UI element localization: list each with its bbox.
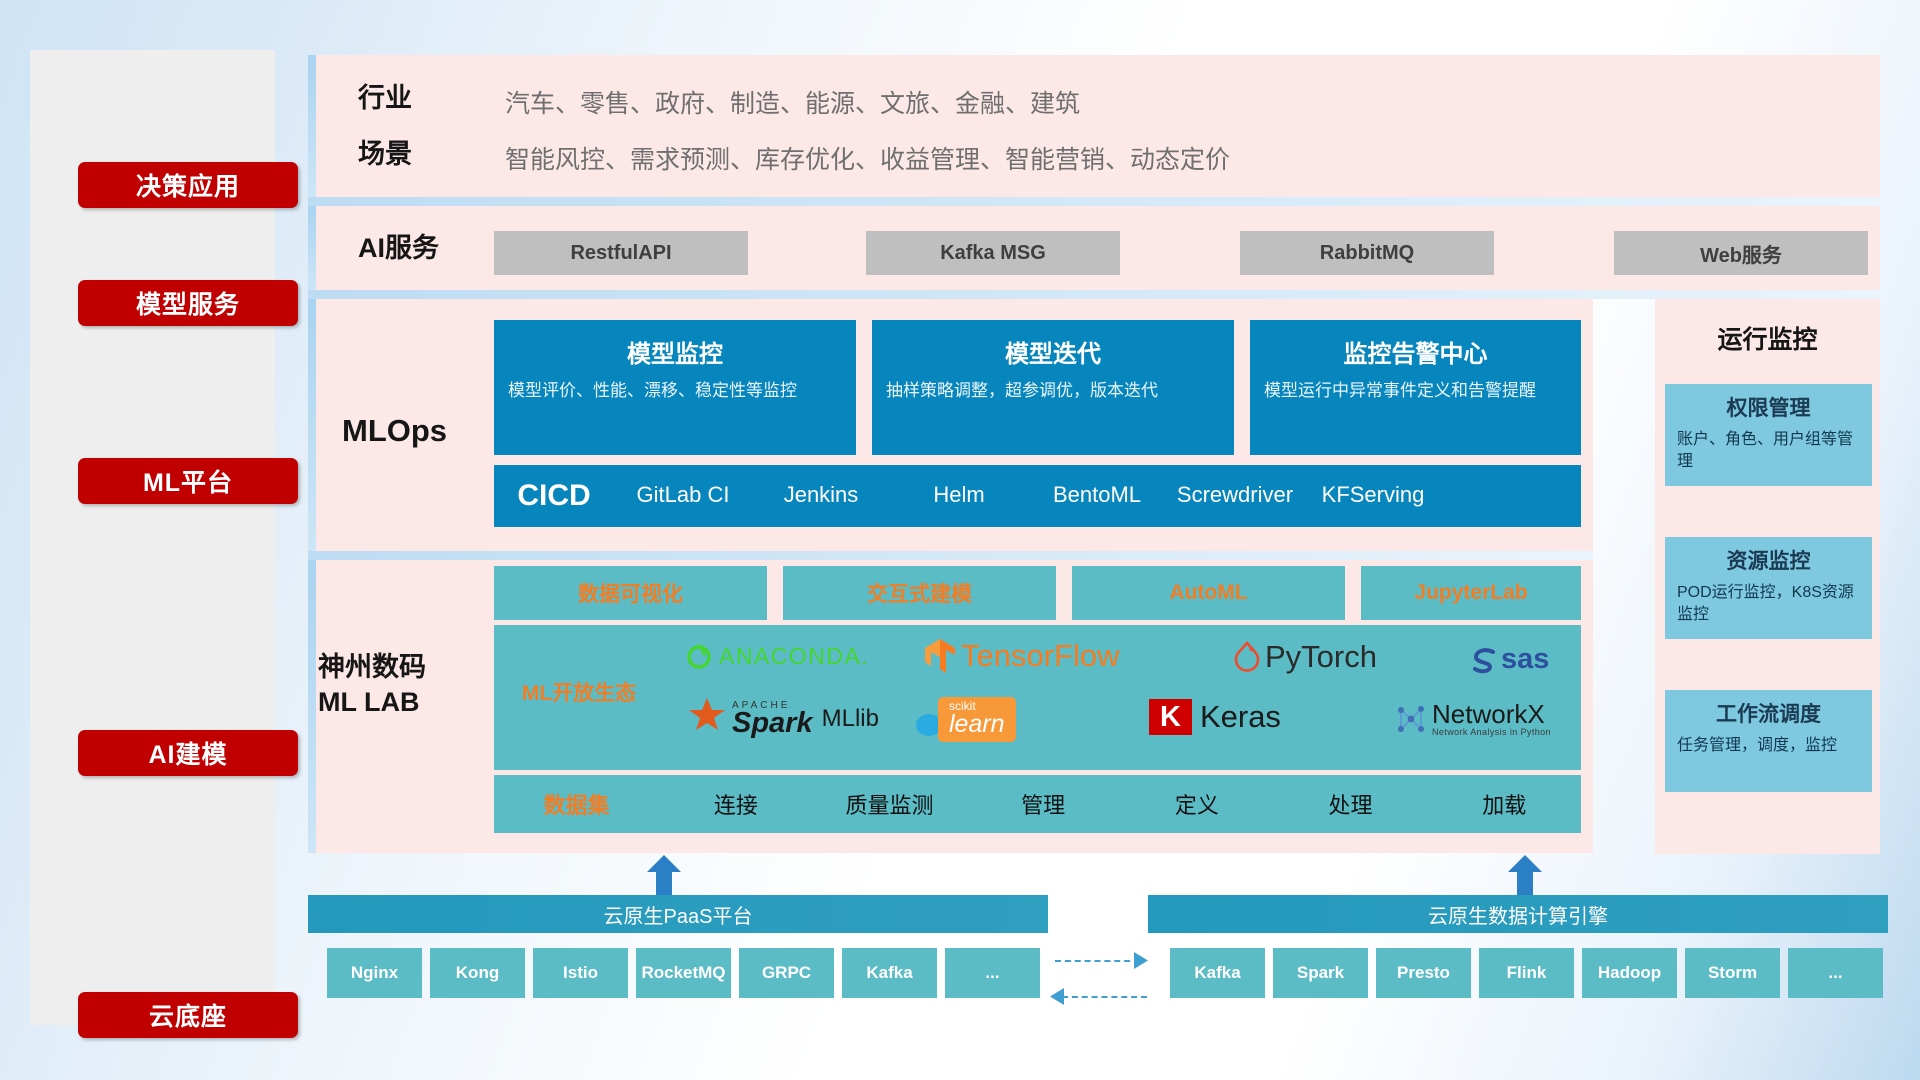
lab-tab-interactive-modeling[interactable]: 交互式建模 bbox=[783, 566, 1056, 620]
left-rail: 决策应用 模型服务 ML平台 AI建模 云底座 bbox=[30, 50, 275, 1025]
monitor-card-desc: 任务管理，调度，监控 bbox=[1677, 735, 1860, 757]
paas-chip-nginx[interactable]: Nginx bbox=[327, 948, 422, 998]
dash-arrow-left-icon bbox=[1050, 988, 1064, 1005]
engine-chip-presto[interactable]: Presto bbox=[1376, 948, 1471, 998]
logo-sas: sas bbox=[1469, 643, 1549, 676]
logo-scikit-learn: scikit learn bbox=[914, 697, 1016, 742]
logo-tensorflow: TensorFlow bbox=[924, 637, 1120, 675]
rail-tag-cloud-base[interactable]: 云底座 bbox=[78, 992, 298, 1038]
logo-networkx-sub: Network Analysis in Python bbox=[1432, 728, 1551, 737]
band4-left-accent bbox=[308, 560, 316, 853]
mlops-card-desc: 抽样策略调整，超参调优，版本迭代 bbox=[886, 379, 1220, 402]
cicd-item-screwdriver[interactable]: Screwdriver bbox=[1166, 465, 1304, 507]
ai-service-item-restfulapi[interactable]: RestfulAPI bbox=[494, 231, 748, 275]
logo-networkx-text: NetworkX bbox=[1432, 701, 1551, 728]
arrow-up-engine-icon bbox=[1508, 855, 1542, 897]
dataset-item-connect[interactable]: 连接 bbox=[659, 788, 813, 820]
ml-lab-label-line2: ML LAB bbox=[318, 685, 426, 720]
rail-tag-ml-platform[interactable]: ML平台 bbox=[78, 458, 298, 504]
engine-chip-spark[interactable]: Spark bbox=[1273, 948, 1368, 998]
dataset-item-load[interactable]: 加载 bbox=[1427, 788, 1581, 820]
ai-service-item-web-service[interactable]: Web服务 bbox=[1614, 231, 1868, 275]
engine-chip-hadoop[interactable]: Hadoop bbox=[1582, 948, 1677, 998]
ai-service-item-kafka-msg[interactable]: Kafka MSG bbox=[866, 231, 1120, 275]
monitor-card-resource[interactable]: 资源监控 POD运行监控，K8S资源监控 bbox=[1665, 537, 1872, 639]
logo-keras: K Keras bbox=[1149, 699, 1281, 735]
dash-arrow-right-icon bbox=[1134, 952, 1148, 969]
logo-mllib-text: MLlib bbox=[822, 705, 879, 733]
lab-tab-automl[interactable]: AutoML bbox=[1072, 566, 1345, 620]
mlops-card-title: 监控告警中心 bbox=[1264, 334, 1567, 369]
industry-label: 行业 bbox=[358, 82, 412, 116]
mlops-card-desc: 模型运行中异常事件定义和告警提醒 bbox=[1264, 379, 1567, 402]
monitor-card-title: 权限管理 bbox=[1677, 392, 1860, 422]
ml-eco-label: ML开放生态 bbox=[504, 677, 654, 707]
band2-left-accent bbox=[308, 206, 316, 290]
lab-tab-jupyterlab[interactable]: JupyterLab bbox=[1361, 566, 1581, 620]
band3-left-accent bbox=[308, 299, 316, 551]
mlops-card-model-iteration[interactable]: 模型迭代 抽样策略调整，超参调优，版本迭代 bbox=[872, 320, 1234, 455]
monitor-card-desc: POD运行监控，K8S资源监控 bbox=[1677, 582, 1860, 625]
band1-left-accent bbox=[308, 55, 316, 197]
monitor-card-title: 工作流调度 bbox=[1677, 698, 1860, 728]
band-separator-2 bbox=[308, 290, 1880, 299]
paas-bar[interactable]: 云原生PaaS平台 bbox=[308, 895, 1048, 933]
dataset-item-quality-monitor[interactable]: 质量监测 bbox=[813, 788, 967, 820]
paas-chip-istio[interactable]: Istio bbox=[533, 948, 628, 998]
ml-lab-label-line1: 神州数码 bbox=[318, 650, 426, 685]
engine-chip-more[interactable]: ... bbox=[1788, 948, 1883, 998]
rail-tag-model-service[interactable]: 模型服务 bbox=[78, 280, 298, 326]
scene-value: 智能风控、需求预测、库存优化、收益管理、智能营销、动态定价 bbox=[505, 140, 1230, 176]
dataset-item-process[interactable]: 处理 bbox=[1274, 788, 1428, 820]
ai-service-item-rabbitmq[interactable]: RabbitMQ bbox=[1240, 231, 1494, 275]
cicd-item-helm[interactable]: Helm bbox=[890, 465, 1028, 507]
monitor-card-desc: 账户、角色、用户组等管理 bbox=[1677, 429, 1860, 472]
dataset-title: 数据集 bbox=[494, 788, 659, 820]
scene-label: 场景 bbox=[358, 138, 412, 172]
dash-connector-right bbox=[1055, 960, 1140, 962]
mlops-card-alert-center[interactable]: 监控告警中心 模型运行中异常事件定义和告警提醒 bbox=[1250, 320, 1581, 455]
logo-spark-mllib: APACHE Spark MLlib bbox=[684, 697, 879, 741]
logo-keras-text: Keras bbox=[1200, 699, 1281, 735]
logo-pytorch-text: PyTorch bbox=[1265, 639, 1377, 675]
band-separator-1 bbox=[308, 197, 1880, 206]
cicd-item-bentoml[interactable]: BentoML bbox=[1028, 465, 1166, 507]
industry-value: 汽车、零售、政府、制造、能源、文旅、金融、建筑 bbox=[505, 84, 1080, 120]
arrow-up-paas-icon bbox=[647, 855, 681, 897]
dataset-item-define[interactable]: 定义 bbox=[1120, 788, 1274, 820]
engine-bar[interactable]: 云原生数据计算引擎 bbox=[1148, 895, 1888, 933]
paas-chip-more[interactable]: ... bbox=[945, 948, 1040, 998]
paas-chip-kong[interactable]: Kong bbox=[430, 948, 525, 998]
paas-chip-rocketmq[interactable]: RocketMQ bbox=[636, 948, 731, 998]
rail-tag-decision-app[interactable]: 决策应用 bbox=[78, 162, 298, 208]
engine-chip-kafka[interactable]: Kafka bbox=[1170, 948, 1265, 998]
logo-networkx: NetworkX Network Analysis in Python bbox=[1394, 701, 1551, 738]
engine-chip-storm[interactable]: Storm bbox=[1685, 948, 1780, 998]
logo-tensorflow-text: TensorFlow bbox=[961, 638, 1120, 674]
cicd-item-jenkins[interactable]: Jenkins bbox=[752, 465, 890, 507]
dataset-item-manage[interactable]: 管理 bbox=[966, 788, 1120, 820]
cicd-item-kfserving[interactable]: KFServing bbox=[1304, 465, 1442, 507]
cicd-row: CICD GitLab CI Jenkins Helm BentoML Scre… bbox=[494, 465, 1581, 527]
mlops-card-desc: 模型评价、性能、漂移、稳定性等监控 bbox=[508, 379, 842, 402]
right-monitor-title: 运行监控 bbox=[1655, 320, 1880, 356]
ai-service-label: AI服务 bbox=[358, 232, 439, 266]
logo-pytorch: PyTorch bbox=[1234, 639, 1377, 675]
monitor-card-permission[interactable]: 权限管理 账户、角色、用户组等管理 bbox=[1665, 384, 1872, 486]
band-separator-3 bbox=[308, 551, 1593, 560]
mlops-card-title: 模型监控 bbox=[508, 334, 842, 369]
monitor-card-workflow[interactable]: 工作流调度 任务管理，调度，监控 bbox=[1665, 690, 1872, 792]
mlops-card-model-monitor[interactable]: 模型监控 模型评价、性能、漂移、稳定性等监控 bbox=[494, 320, 856, 455]
dash-connector-left bbox=[1062, 996, 1147, 998]
architecture-diagram: 决策应用 模型服务 ML平台 AI建模 云底座 行业 汽车、零售、政府、制造、能… bbox=[0, 0, 1920, 1080]
ml-eco-box: ML开放生态 ANACONDA. TensorFlow PyTorch bbox=[494, 625, 1581, 770]
monitor-card-title: 资源监控 bbox=[1677, 545, 1860, 575]
logo-sas-text: sas bbox=[1501, 643, 1549, 676]
lab-tab-data-visualization[interactable]: 数据可视化 bbox=[494, 566, 767, 620]
dataset-row: 数据集 连接 质量监测 管理 定义 处理 加载 bbox=[494, 775, 1581, 833]
rail-tag-ai-modeling[interactable]: AI建模 bbox=[78, 730, 298, 776]
paas-chip-kafka[interactable]: Kafka bbox=[842, 948, 937, 998]
ml-lab-label: 神州数码 ML LAB bbox=[318, 650, 426, 720]
engine-chip-flink[interactable]: Flink bbox=[1479, 948, 1574, 998]
mlops-label: MLOps bbox=[342, 412, 447, 451]
logo-anaconda: ANACONDA. bbox=[684, 641, 869, 671]
logo-anaconda-text: ANACONDA. bbox=[719, 643, 869, 670]
cicd-item-gitlab-ci[interactable]: GitLab CI bbox=[614, 465, 752, 507]
mlops-card-title: 模型迭代 bbox=[886, 334, 1220, 369]
cicd-title: CICD bbox=[494, 465, 614, 527]
paas-chip-grpc[interactable]: GRPC bbox=[739, 948, 834, 998]
